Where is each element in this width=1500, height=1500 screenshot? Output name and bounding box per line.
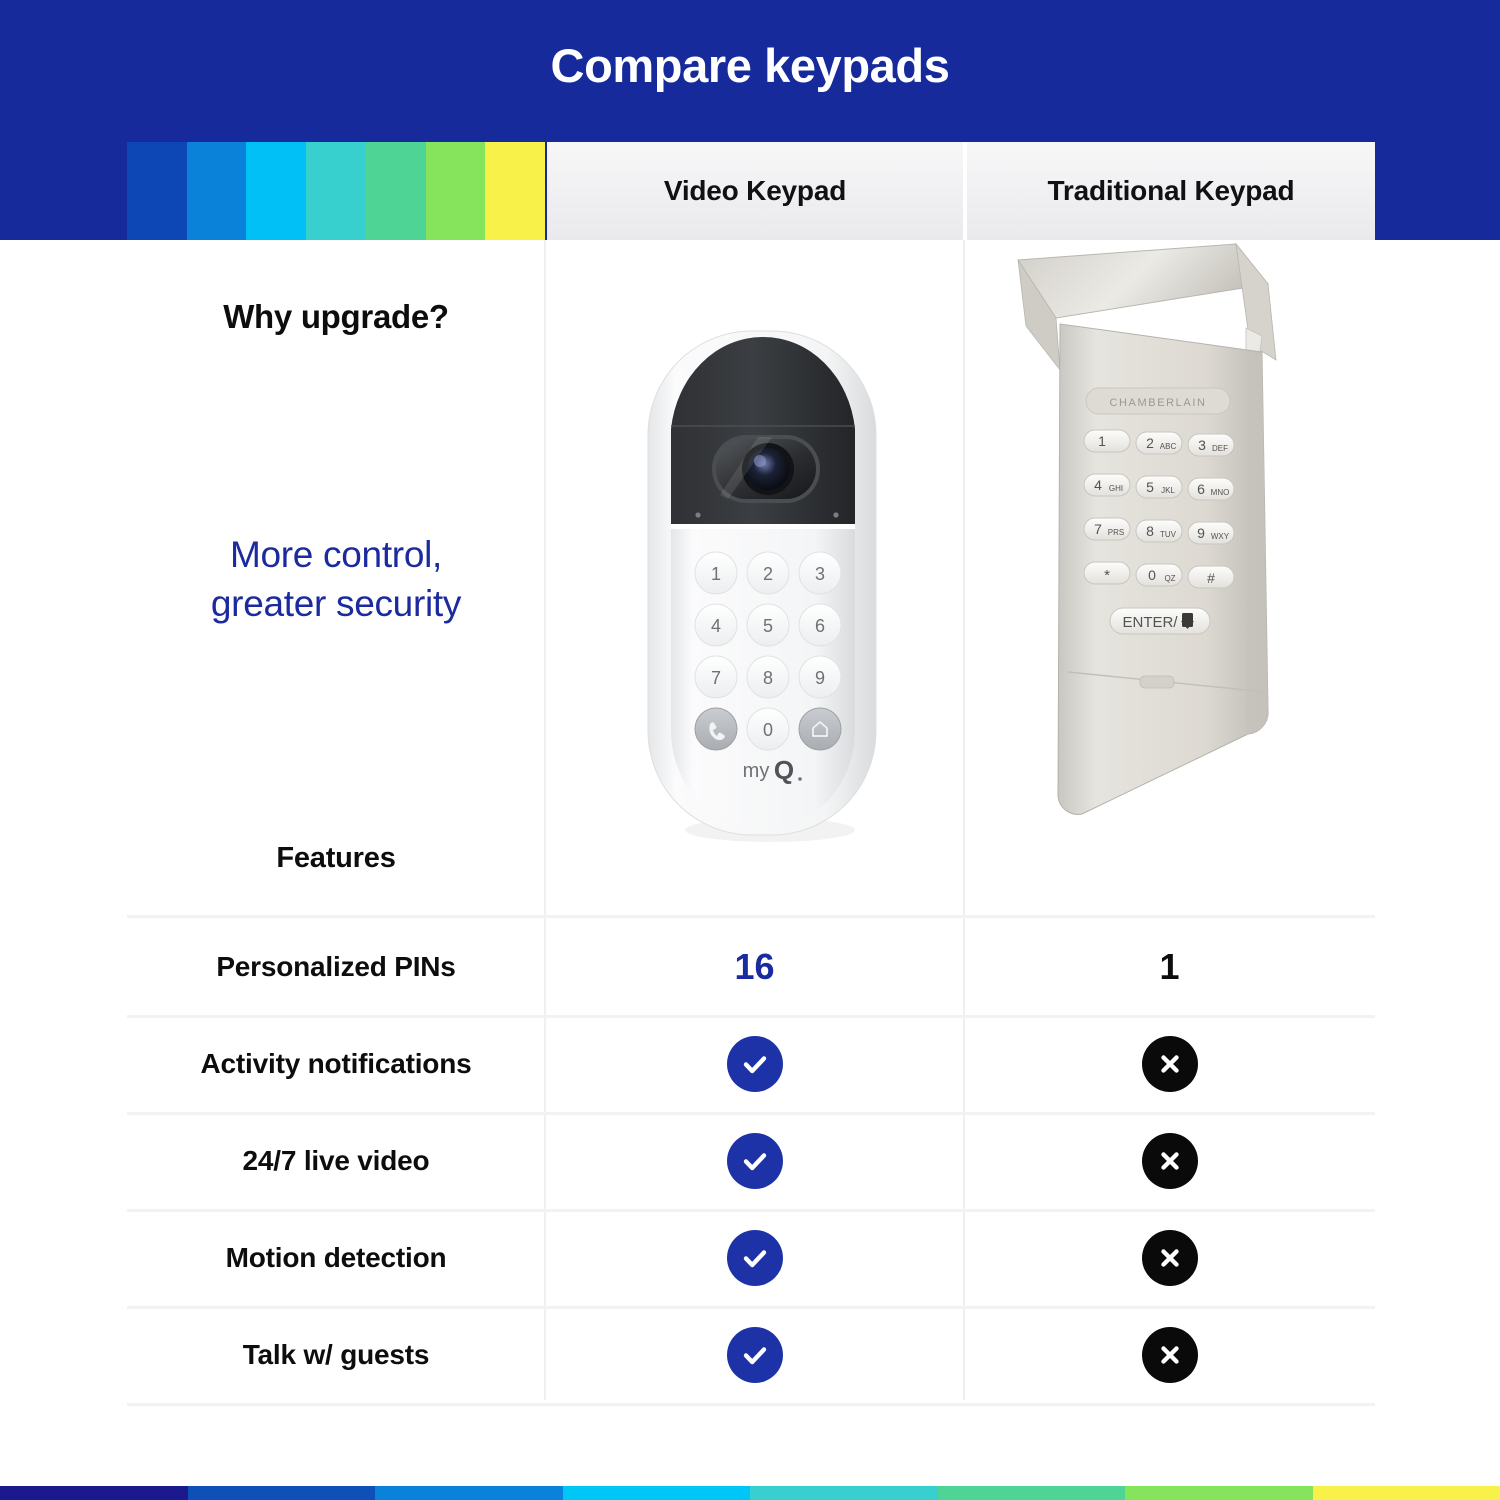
check-icon <box>727 1036 783 1092</box>
svg-text:TUV: TUV <box>1160 530 1177 539</box>
svg-text:JKL: JKL <box>1161 486 1175 495</box>
svg-text:0: 0 <box>1148 567 1156 583</box>
svg-text:8: 8 <box>1146 523 1154 539</box>
svg-text:3: 3 <box>815 564 825 584</box>
why-upgrade-heading: Why upgrade? <box>127 298 545 336</box>
feature-label: 24/7 live video <box>127 1112 545 1209</box>
svg-text:ABC: ABC <box>1160 442 1177 451</box>
bottom-swatch-7 <box>1125 1486 1313 1500</box>
tagline-line-1: More control, <box>127 530 545 579</box>
swatch-7 <box>485 142 545 240</box>
column-header-traditional-keypad-label: Traditional Keypad <box>1048 175 1295 207</box>
bottom-swatch-6 <box>938 1486 1126 1500</box>
table-row: 24/7 live video <box>127 1112 1375 1209</box>
bottom-color-strip <box>0 1486 1500 1500</box>
column-header-video-keypad: Video Keypad <box>547 142 963 240</box>
swatch-4 <box>306 142 366 240</box>
bottom-swatch-5 <box>750 1486 938 1500</box>
traditional-keypad-enter-label: ENTER/ <box>1122 614 1178 631</box>
comparison-table: Why upgrade? More control, greater secur… <box>0 240 1500 1490</box>
cross-icon <box>1142 1133 1198 1189</box>
table-row: Activity notifications <box>127 1015 1375 1112</box>
color-swatch-strip <box>127 142 545 240</box>
svg-text:*: * <box>1104 567 1110 584</box>
page-title: Compare keypads <box>0 38 1500 93</box>
traditional-keypad-product-image: CHAMBERLAIN 1 2ABC 3DEF 4GHI 5JKL 6MNO <box>1000 240 1300 840</box>
bottom-swatch-2 <box>188 1486 376 1500</box>
swatch-2 <box>187 142 247 240</box>
video-keypad-cell <box>545 1306 964 1403</box>
svg-text:#: # <box>1207 570 1215 586</box>
svg-text:DEF: DEF <box>1212 444 1228 453</box>
svg-text:6: 6 <box>1197 481 1205 497</box>
svg-text:MNO: MNO <box>1211 488 1230 497</box>
tagline-line-2: greater security <box>127 579 545 628</box>
video-keypad-cell: 16 <box>545 918 964 1015</box>
features-column-heading: Features <box>127 842 545 875</box>
bottom-swatch-8 <box>1313 1486 1500 1500</box>
traditional-keypad-value: 1 <box>1159 946 1179 988</box>
video-keypad-cell <box>545 1015 964 1112</box>
svg-text:Q: Q <box>774 755 794 785</box>
traditional-keypad-cell <box>964 1306 1375 1403</box>
check-icon <box>727 1230 783 1286</box>
svg-text:4: 4 <box>1094 477 1102 493</box>
column-header-video-keypad-label: Video Keypad <box>664 175 846 207</box>
svg-text:GHI: GHI <box>1109 484 1123 493</box>
swatch-6 <box>426 142 486 240</box>
traditional-keypad-cell <box>964 1112 1375 1209</box>
svg-text:WXY: WXY <box>1211 532 1230 541</box>
table-hline-5 <box>127 1403 1375 1406</box>
feature-label: Talk w/ guests <box>127 1306 545 1403</box>
svg-text:1: 1 <box>711 564 721 584</box>
svg-text:7: 7 <box>711 668 721 688</box>
column-header-traditional-keypad: Traditional Keypad <box>967 142 1375 240</box>
svg-text:5: 5 <box>1146 479 1154 495</box>
traditional-keypad-cell <box>964 1015 1375 1112</box>
feature-label: Activity notifications <box>127 1015 545 1112</box>
traditional-keypad-brandmark: CHAMBERLAIN <box>1109 397 1206 409</box>
svg-text:PRS: PRS <box>1108 528 1124 537</box>
video-keypad-value: 16 <box>734 946 774 988</box>
check-icon <box>727 1133 783 1189</box>
traditional-keypad-cell <box>964 1209 1375 1306</box>
tagline: More control, greater security <box>127 530 545 628</box>
video-keypad-cell <box>545 1112 964 1209</box>
svg-text:4: 4 <box>711 616 721 636</box>
feature-label: Motion detection <box>127 1209 545 1306</box>
svg-text:6: 6 <box>815 616 825 636</box>
cross-icon <box>1142 1327 1198 1383</box>
svg-text:9: 9 <box>815 668 825 688</box>
svg-text:2: 2 <box>763 564 773 584</box>
check-icon <box>727 1327 783 1383</box>
svg-text:1: 1 <box>1098 433 1106 449</box>
svg-text:my: my <box>743 760 770 782</box>
bottom-swatch-4 <box>563 1486 751 1500</box>
svg-text:3: 3 <box>1198 437 1206 453</box>
svg-text:5: 5 <box>763 616 773 636</box>
cross-icon <box>1142 1036 1198 1092</box>
svg-text:9: 9 <box>1197 525 1205 541</box>
svg-text:0: 0 <box>763 720 773 740</box>
feature-label: Personalized PINs <box>127 918 545 1015</box>
svg-text:7: 7 <box>1094 521 1102 537</box>
cross-icon <box>1142 1230 1198 1286</box>
traditional-keypad-cell: 1 <box>964 918 1375 1015</box>
swatch-5 <box>366 142 426 240</box>
table-row: Talk w/ guests <box>127 1306 1375 1403</box>
table-row: Personalized PINs161 <box>127 918 1375 1015</box>
swatch-3 <box>246 142 306 240</box>
svg-text:8: 8 <box>763 668 773 688</box>
svg-text:QZ: QZ <box>1164 574 1175 583</box>
video-keypad-product-image: 1 2 3 4 5 6 7 8 9 0 <box>640 325 890 845</box>
table-row: Motion detection <box>127 1209 1375 1306</box>
svg-text:2: 2 <box>1146 435 1154 451</box>
video-keypad-cell <box>545 1209 964 1306</box>
bottom-swatch-1 <box>0 1486 188 1500</box>
swatch-1 <box>127 142 187 240</box>
bottom-swatch-3 <box>375 1486 563 1500</box>
